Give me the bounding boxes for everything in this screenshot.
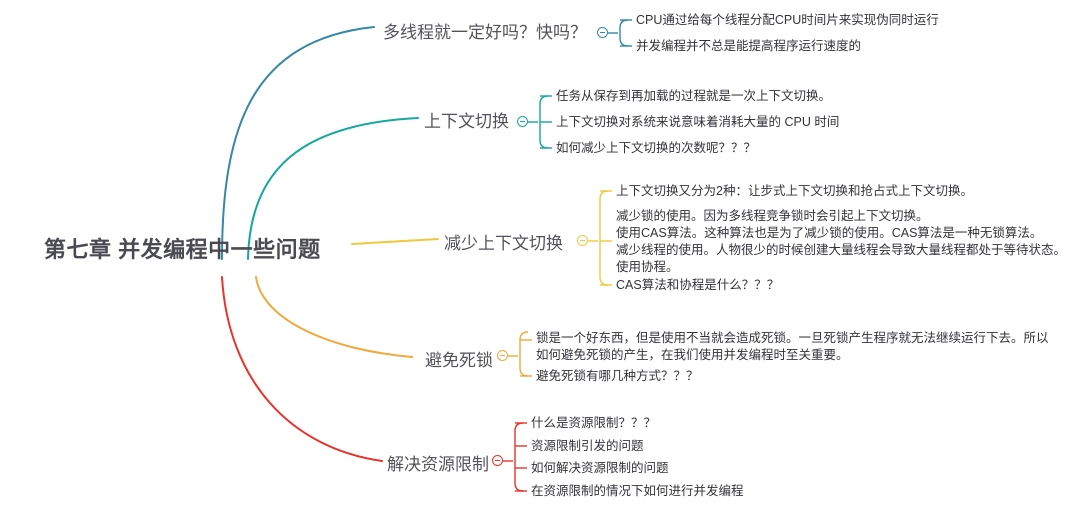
branch-label-resource-limit[interactable]: 解决资源限制	[387, 450, 489, 475]
branch-curve-resource-limit	[222, 277, 382, 461]
leaf-context-switch-2[interactable]: 如何减少上下文切换的次数呢？？？	[556, 140, 756, 157]
leaf-context-switch-0[interactable]: 任务从保存到再加载的过程就是一次上下文切换。	[556, 88, 831, 105]
leaf-multithread-1[interactable]: 并发编程并不总是能提高程序运行速度的	[636, 38, 861, 55]
leaf-resource-limit-3[interactable]: 在资源限制的情况下如何进行并发编程	[531, 483, 744, 500]
bracket-context-switch	[540, 96, 548, 148]
collapse-toggle-multithread[interactable]	[597, 27, 608, 38]
branch-label-avoid-deadlock[interactable]: 避免死锁	[425, 346, 493, 371]
bracket-multithread	[620, 20, 628, 46]
bracket-resource-limit	[515, 423, 523, 491]
leaf-resource-limit-2[interactable]: 如何解决资源限制的问题	[531, 460, 669, 477]
minus-icon	[500, 355, 505, 356]
branch-curve-avoid-deadlock	[256, 277, 412, 357]
branch-label-multithread[interactable]: 多线程就一定好吗？快吗？	[383, 18, 587, 43]
collapse-toggle-resource-limit[interactable]	[492, 455, 503, 466]
bracket-reduce-context-switch	[600, 191, 608, 285]
collapse-toggle-avoid-deadlock[interactable]	[497, 350, 508, 361]
minus-icon	[600, 32, 605, 33]
mindmap-canvas: 第七章 并发编程中一些问题 多线程就一定好吗？快吗？ CPU通过给每个线程分配C…	[0, 0, 1067, 517]
collapse-toggle-reduce-context-switch[interactable]	[577, 235, 588, 246]
leaf-avoid-deadlock-1[interactable]: 避免死锁有哪几种方式？？？	[536, 368, 699, 385]
branch-curve-multithread	[222, 27, 374, 259]
leaf-reduce-context-switch-2[interactable]: CAS算法和协程是什么？？？	[616, 277, 779, 294]
leaf-multithread-0[interactable]: CPU通过给每个线程分配CPU时间片来实现伪同时运行	[636, 12, 939, 29]
minus-icon	[520, 121, 525, 122]
branch-curve-reduce-context-switch	[352, 239, 438, 244]
minus-icon	[495, 460, 500, 461]
root-title: 第七章 并发编程中一些问题	[44, 232, 321, 264]
leaf-reduce-context-switch-1[interactable]: 减少锁的使用。因为多线程竞争锁时会引起上下文切换。 使用CAS算法。这种算法也是…	[616, 208, 1066, 276]
branch-label-context-switch[interactable]: 上下文切换	[424, 107, 509, 132]
branch-label-reduce-context-switch[interactable]: 减少上下文切换	[444, 229, 563, 254]
leaf-avoid-deadlock-0[interactable]: 锁是一个好东西，但是使用不当就会造成死锁。一旦死锁产生程序就无法继续运行下去。所…	[536, 330, 1049, 364]
bracket-avoid-deadlock	[520, 332, 528, 376]
leaf-resource-limit-0[interactable]: 什么是资源限制？？？	[531, 415, 656, 432]
collapse-toggle-context-switch[interactable]	[517, 116, 528, 127]
leaf-context-switch-1[interactable]: 上下文切换对系统来说意味着消耗大量的 CPU 时间	[556, 114, 839, 131]
leaf-resource-limit-1[interactable]: 资源限制引发的问题	[531, 438, 644, 455]
minus-icon	[580, 240, 585, 241]
leaf-reduce-context-switch-0[interactable]: 上下文切换又分为2种：让步式上下文切换和抢占式上下文切换。	[616, 183, 973, 200]
